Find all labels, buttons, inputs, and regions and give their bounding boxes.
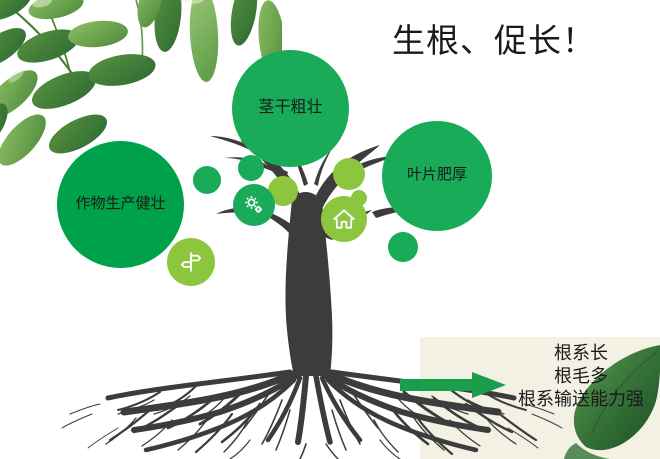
bubble-leaf-thick-label: 叶片肥厚 xyxy=(407,167,467,184)
root-benefit-line-1: 根系长 xyxy=(518,342,644,365)
bubble-crop-growth[interactable]: 作物生产健壮 xyxy=(57,141,184,268)
foliage-dot-4 xyxy=(333,158,365,190)
root-benefits-text: 根系长 根毛多 根系输送能力强 xyxy=(518,342,644,411)
slide-canvas: 生根、促长！ xyxy=(0,0,660,459)
bubble-leaf-thick[interactable]: 叶片肥厚 xyxy=(382,121,492,231)
bubble-crop-growth-label: 作物生产健壮 xyxy=(75,196,165,213)
home-icon xyxy=(331,206,357,232)
icon-bubble-gear[interactable] xyxy=(233,184,275,226)
bubble-stem-thick-label: 茎干粗壮 xyxy=(258,99,322,117)
signpost-icon xyxy=(178,249,204,275)
right-arrow-icon xyxy=(400,371,506,399)
bubble-stem-thick[interactable]: 茎干粗壮 xyxy=(232,50,349,167)
icon-bubble-signpost[interactable] xyxy=(167,238,215,286)
root-benefit-line-2: 根毛多 xyxy=(518,365,644,388)
gear-icon xyxy=(242,193,266,217)
icon-bubble-home[interactable] xyxy=(321,196,367,242)
root-benefit-line-3: 根系输送能力强 xyxy=(518,388,644,411)
foliage-dot-5 xyxy=(388,232,418,262)
foliage-dot-1 xyxy=(193,166,221,194)
